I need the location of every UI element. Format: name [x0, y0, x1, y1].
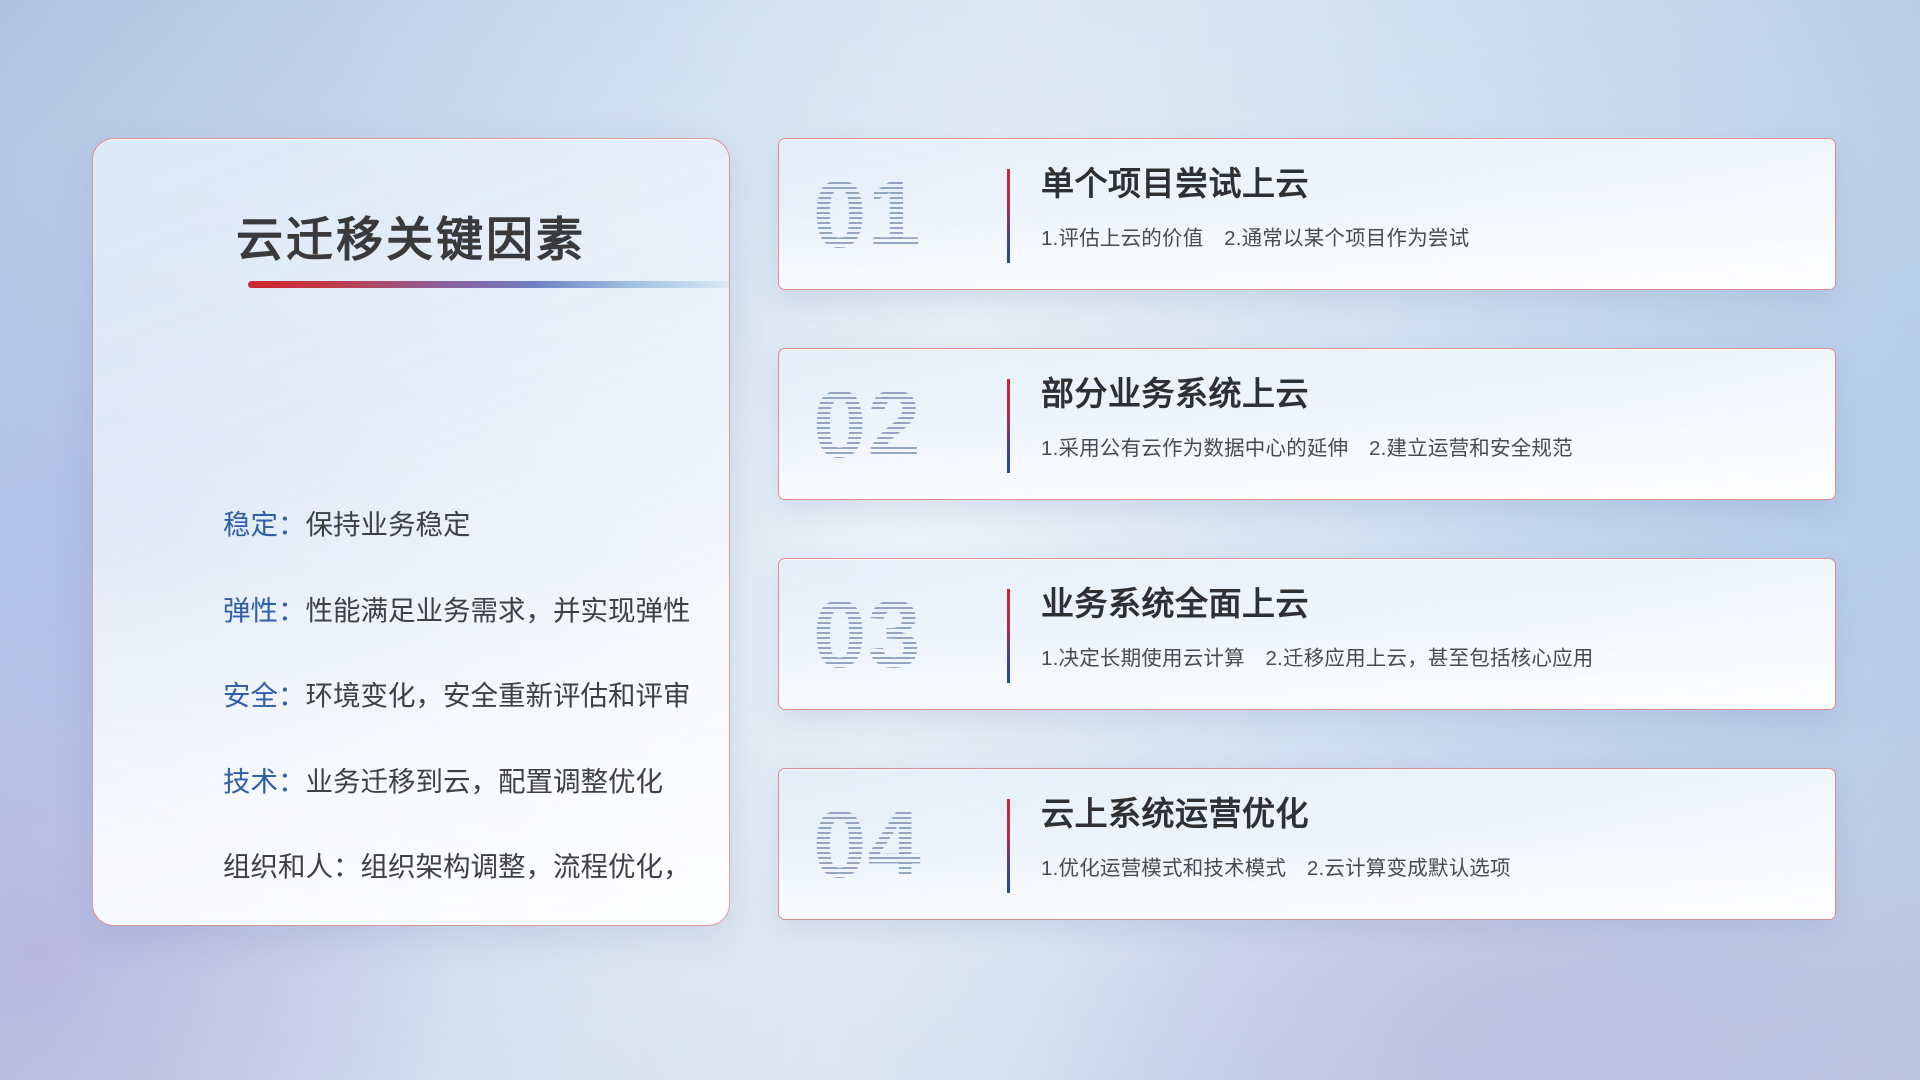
step-title: 单个项目尝试上云: [1041, 165, 1809, 203]
factor-row: 组织和人：组织架构调整，流程优化，: [223, 853, 689, 881]
step-divider-bar: [1007, 589, 1010, 683]
step-title: 业务系统全面上云: [1041, 585, 1809, 623]
factor-text: 环境变化，安全重新评估和评审: [306, 680, 691, 711]
step-card[interactable]: 01单个项目尝试上云1.评估上云的价值 2.通常以某个项目作为尝试: [778, 138, 1836, 290]
step-body: 部分业务系统上云1.采用公有云作为数据中心的延伸 2.建立运营和安全规范: [1041, 375, 1809, 461]
step-body: 单个项目尝试上云1.评估上云的价值 2.通常以某个项目作为尝试: [1041, 165, 1809, 251]
step-number-ghost: 02: [813, 367, 999, 483]
step-title: 部分业务系统上云: [1041, 375, 1809, 413]
step-number-ghost: 01: [813, 157, 999, 273]
factor-row: 稳定：保持业务稳定: [223, 511, 689, 539]
factor-label: 稳定：: [223, 509, 306, 540]
step-body: 业务系统全面上云1.决定长期使用云计算 2.迁移应用上云，甚至包括核心应用: [1041, 585, 1809, 671]
factor-label: 弹性：: [223, 595, 306, 626]
page-title: 云迁移关键因素: [93, 201, 729, 270]
title-underline-gradient: [248, 281, 730, 288]
factor-row: 技术：业务迁移到云，配置调整优化: [223, 768, 689, 796]
step-number-ghost: 03: [813, 577, 999, 693]
step-subtitle: 1.优化运营模式和技术模式 2.云计算变成默认选项: [1041, 851, 1809, 881]
step-divider-bar: [1007, 169, 1010, 263]
step-number-ghost: 04: [813, 787, 999, 903]
key-factors-list: 稳定：保持业务稳定弹性：性能满足业务需求，并实现弹性安全：环境变化，安全重新评估…: [223, 511, 689, 926]
slide-stage: 云迁移关键因素 稳定：保持业务稳定弹性：性能满足业务需求，并实现弹性安全：环境变…: [0, 0, 1920, 1080]
step-body: 云上系统运营优化1.优化运营模式和技术模式 2.云计算变成默认选项: [1041, 795, 1809, 881]
step-card[interactable]: 02部分业务系统上云1.采用公有云作为数据中心的延伸 2.建立运营和安全规范: [778, 348, 1836, 500]
step-divider-bar: [1007, 379, 1010, 473]
step-number-text: 02: [813, 367, 922, 483]
factor-text: 性能满足业务需求，并实现弹性: [306, 595, 691, 626]
factor-label: 技术：: [223, 766, 306, 797]
factor-row: 弹性：性能满足业务需求，并实现弹性: [223, 597, 689, 625]
step-divider-bar: [1007, 799, 1010, 893]
factor-text: 保持业务稳定: [306, 509, 471, 540]
factor-text: 组织架构调整，流程优化，: [361, 851, 691, 882]
step-card[interactable]: 03业务系统全面上云1.决定长期使用云计算 2.迁移应用上云，甚至包括核心应用: [778, 558, 1836, 710]
step-subtitle: 1.采用公有云作为数据中心的延伸 2.建立运营和安全规范: [1041, 431, 1809, 461]
factor-row: 安全：环境变化，安全重新评估和评审: [223, 682, 689, 710]
step-subtitle: 1.评估上云的价值 2.通常以某个项目作为尝试: [1041, 221, 1809, 251]
step-subtitle: 1.决定长期使用云计算 2.迁移应用上云，甚至包括核心应用: [1041, 641, 1809, 671]
step-card[interactable]: 04云上系统运营优化1.优化运营模式和技术模式 2.云计算变成默认选项: [778, 768, 1836, 920]
step-number-text: 01: [813, 157, 922, 273]
factor-label: 组织和人：: [223, 851, 361, 882]
migration-steps-list: 01单个项目尝试上云1.评估上云的价值 2.通常以某个项目作为尝试02部分业务系…: [778, 138, 1836, 920]
step-number-text: 03: [813, 577, 922, 693]
factor-label: 安全：: [223, 680, 306, 711]
step-title: 云上系统运营优化: [1041, 795, 1809, 833]
step-number-text: 04: [813, 787, 922, 903]
key-factors-panel: 云迁移关键因素 稳定：保持业务稳定弹性：性能满足业务需求，并实现弹性安全：环境变…: [92, 138, 730, 926]
factor-text: 业务迁移到云，配置调整优化: [306, 766, 664, 797]
